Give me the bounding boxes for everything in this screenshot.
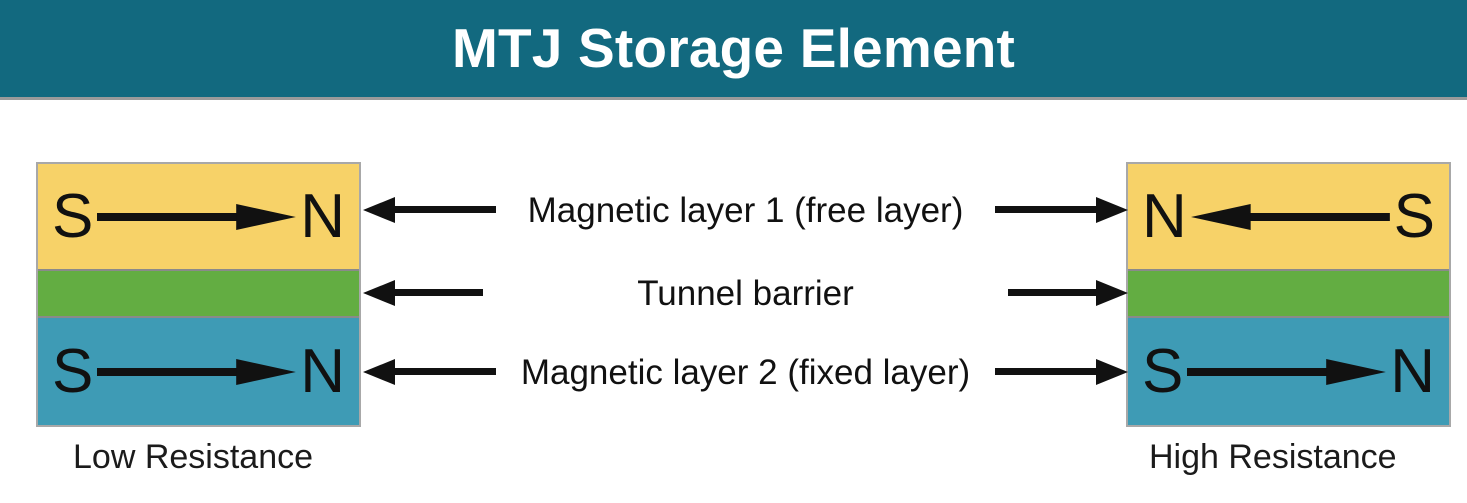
right-free-layer-left-pole: N [1142,186,1187,248]
arrow-left-icon [363,197,496,223]
callout-label-free-layer: Magnetic layer 1 (free layer) [496,193,995,228]
arrow-right-icon [995,359,1128,385]
right-free-layer-right-pole: S [1394,186,1435,248]
left-tunnel-barrier [38,271,359,318]
left-free-layer-right-pole: N [300,186,345,248]
page-title: MTJ Storage Element [452,21,1015,76]
caption-high-resistance: High Resistance [1149,440,1397,474]
arrow-left-icon [1191,204,1390,230]
left-fixed-layer: S N [38,318,359,425]
right-fixed-layer: S N [1128,318,1449,425]
right-free-layer-spin: N S [1128,186,1449,248]
arrow-left-icon [363,280,483,306]
mtj-stack-low-resistance: S N S N [36,162,361,427]
callout-row-free-layer: Magnetic layer 1 (free layer) [363,190,1128,230]
left-fixed-layer-right-pole: N [300,341,345,403]
header-divider [0,97,1467,100]
callout-label-fixed-layer: Magnetic layer 2 (fixed layer) [496,355,995,390]
right-fixed-layer-spin: S N [1128,341,1449,403]
arrow-right-icon [1008,280,1128,306]
right-free-layer: N S [1128,164,1449,271]
callout-label-tunnel-barrier: Tunnel barrier [483,276,1008,311]
arrow-right-icon [1187,359,1386,385]
arrow-right-icon [97,204,296,230]
left-free-layer-spin: S N [38,186,359,248]
mtj-stack-high-resistance: N S S N [1126,162,1451,427]
left-fixed-layer-spin: S N [38,341,359,403]
right-fixed-layer-right-pole: N [1390,341,1435,403]
left-free-layer-left-pole: S [52,186,93,248]
callout-row-fixed-layer: Magnetic layer 2 (fixed layer) [363,352,1128,392]
diagram-header: MTJ Storage Element [0,0,1467,97]
arrow-right-icon [97,359,296,385]
left-free-layer: S N [38,164,359,271]
arrow-left-icon [363,359,496,385]
arrow-right-icon [995,197,1128,223]
callout-row-tunnel-barrier: Tunnel barrier [363,273,1128,313]
right-fixed-layer-left-pole: S [1142,341,1183,403]
caption-low-resistance: Low Resistance [73,440,313,474]
mtj-diagram: MTJ Storage Element S N S [0,0,1467,503]
left-fixed-layer-left-pole: S [52,341,93,403]
right-tunnel-barrier [1128,271,1449,318]
